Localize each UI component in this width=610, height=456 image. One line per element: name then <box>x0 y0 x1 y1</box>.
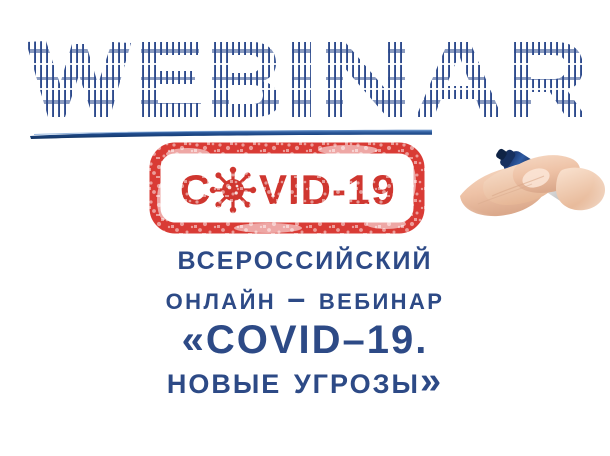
title-line-3: «COVID–19. <box>0 320 610 360</box>
stamp-text-prefix: C <box>180 166 211 213</box>
stamp-text-suffix: VID-19 <box>259 166 396 213</box>
title-line-4: Новые угрозы» <box>0 362 610 400</box>
event-title-block: Всероссийский онлайн – вебинар «COVID–19… <box>0 240 610 400</box>
webinar-poster: C VID-19 <box>0 0 610 456</box>
webinar-headline-art <box>0 22 610 122</box>
hand-marker-illustration <box>432 126 610 222</box>
coronavirus-icon <box>210 167 256 213</box>
title-line-1: Всероссийский <box>0 240 610 275</box>
covid-19-stamp-art: C VID-19 <box>148 142 426 234</box>
title-line-2: онлайн – вебинар <box>0 282 610 314</box>
webinar-headline <box>0 22 610 122</box>
covid-19-stamp: C VID-19 <box>148 142 426 234</box>
hand-holding-marker-photo <box>432 126 610 222</box>
